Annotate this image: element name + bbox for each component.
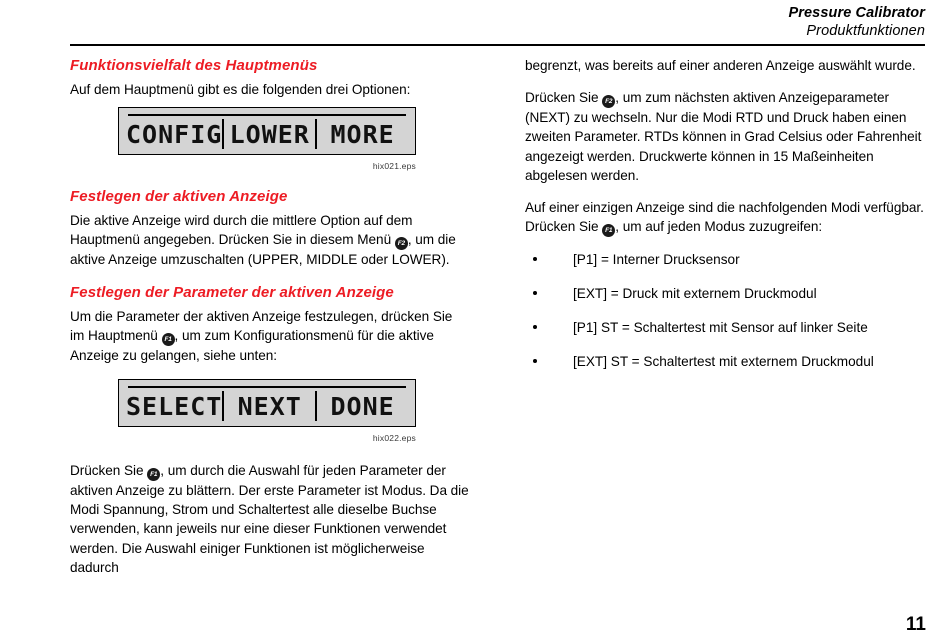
paragraph-next-parameter: Drücken Sie F2, um zum nächsten aktiven … xyxy=(525,88,925,185)
left-column: Funktionsvielfalt des Hauptmenüs Auf dem… xyxy=(70,56,470,590)
lcd-softkey-config: CONFIG xyxy=(126,119,222,149)
f1-key-badge: F1 xyxy=(602,224,615,237)
paragraph-active-display-part1: Die aktive Anzeige wird durch die mittle… xyxy=(70,213,412,247)
header-title: Pressure Calibrator xyxy=(70,4,925,22)
bullet-dot-icon xyxy=(533,291,537,295)
list-item-label: [EXT] = Druck mit externem Druckmodul xyxy=(573,286,817,301)
lcd-top-rule-1 xyxy=(128,114,406,116)
lcd-softkey-select: SELECT xyxy=(126,391,222,421)
bullet-dot-icon xyxy=(533,257,537,261)
paragraph-single-display-modes: Auf einer einzigen Anzeige sind die nach… xyxy=(525,198,925,237)
f2-key-badge: F2 xyxy=(602,95,615,108)
paragraph-active-parameters: Um die Parameter der aktiven Anzeige fes… xyxy=(70,307,470,365)
bullet-dot-icon xyxy=(533,359,537,363)
list-item: [EXT] = Druck mit externem Druckmodul xyxy=(525,284,925,303)
list-item: [EXT] ST = Schaltertest mit externem Dru… xyxy=(525,352,925,371)
page-number: 11 xyxy=(906,614,926,636)
lcd-softkey-next: NEXT xyxy=(224,391,315,421)
lcd-display-config-menu: SELECT NEXT DONE hix022.eps xyxy=(118,379,416,443)
f2-key-badge: F2 xyxy=(395,237,408,250)
list-item-label: [P1] ST = Schaltertest mit Sensor auf li… xyxy=(573,320,868,335)
right-column: begrenzt, was bereits auf einer anderen … xyxy=(525,56,925,386)
lcd-top-rule-2 xyxy=(128,386,406,388)
paragraph-next-parameter-part1: Drücken Sie xyxy=(525,90,602,105)
lcd-softkey-lower: LOWER xyxy=(224,119,315,149)
page-running-header: Pressure Calibrator Produktfunktionen xyxy=(70,4,925,40)
lcd-softkey-done: DONE xyxy=(317,391,408,421)
list-item-label: [EXT] ST = Schaltertest mit externem Dru… xyxy=(573,354,874,369)
section-heading-active-parameters: Festlegen der Parameter der aktiven Anze… xyxy=(70,283,470,302)
section-heading-main-menu: Funktionsvielfalt des Hauptmenüs xyxy=(70,56,470,75)
paragraph-scroll-parameters-part1: Drücken Sie xyxy=(70,463,147,478)
header-divider-rule xyxy=(70,44,925,46)
f1-key-badge: F1 xyxy=(162,333,175,346)
lcd-display-main-menu: CONFIG LOWER MORE hix021.eps xyxy=(118,107,416,171)
paragraph-scroll-parameters-part2: , um durch die Auswahl für jeden Paramet… xyxy=(70,463,469,575)
lcd-bezel-2: SELECT NEXT DONE xyxy=(118,379,416,427)
paragraph-single-display-modes-part2: , um auf jeden Modus zuzugreifen: xyxy=(615,219,822,234)
f1-key-badge: F1 xyxy=(147,468,160,481)
lcd-softkey-row-2: SELECT NEXT DONE xyxy=(126,391,408,421)
header-subtitle: Produktfunktionen xyxy=(70,22,925,40)
list-item: [P1] ST = Schaltertest mit Sensor auf li… xyxy=(525,318,925,337)
lcd-softkey-row-1: CONFIG LOWER MORE xyxy=(126,119,408,149)
paragraph-active-display: Die aktive Anzeige wird durch die mittle… xyxy=(70,211,470,269)
bullet-dot-icon xyxy=(533,325,537,329)
mode-list: [P1] = Interner Drucksensor [EXT] = Druc… xyxy=(525,250,925,371)
lcd-softkey-more: MORE xyxy=(317,119,408,149)
lcd-bezel-1: CONFIG LOWER MORE xyxy=(118,107,416,155)
figure-caption-hix022: hix022.eps xyxy=(118,433,416,443)
paragraph-scroll-parameters: Drücken Sie F1, um durch die Auswahl für… xyxy=(70,461,470,577)
list-item-label: [P1] = Interner Drucksensor xyxy=(573,252,740,267)
list-item: [P1] = Interner Drucksensor xyxy=(525,250,925,269)
paragraph-continued-limitation: begrenzt, was bereits auf einer anderen … xyxy=(525,56,925,75)
section-heading-active-display: Festlegen der aktiven Anzeige xyxy=(70,187,470,206)
figure-caption-hix021: hix021.eps xyxy=(118,161,416,171)
paragraph-main-menu-intro: Auf dem Hauptmenü gibt es die folgenden … xyxy=(70,80,470,99)
